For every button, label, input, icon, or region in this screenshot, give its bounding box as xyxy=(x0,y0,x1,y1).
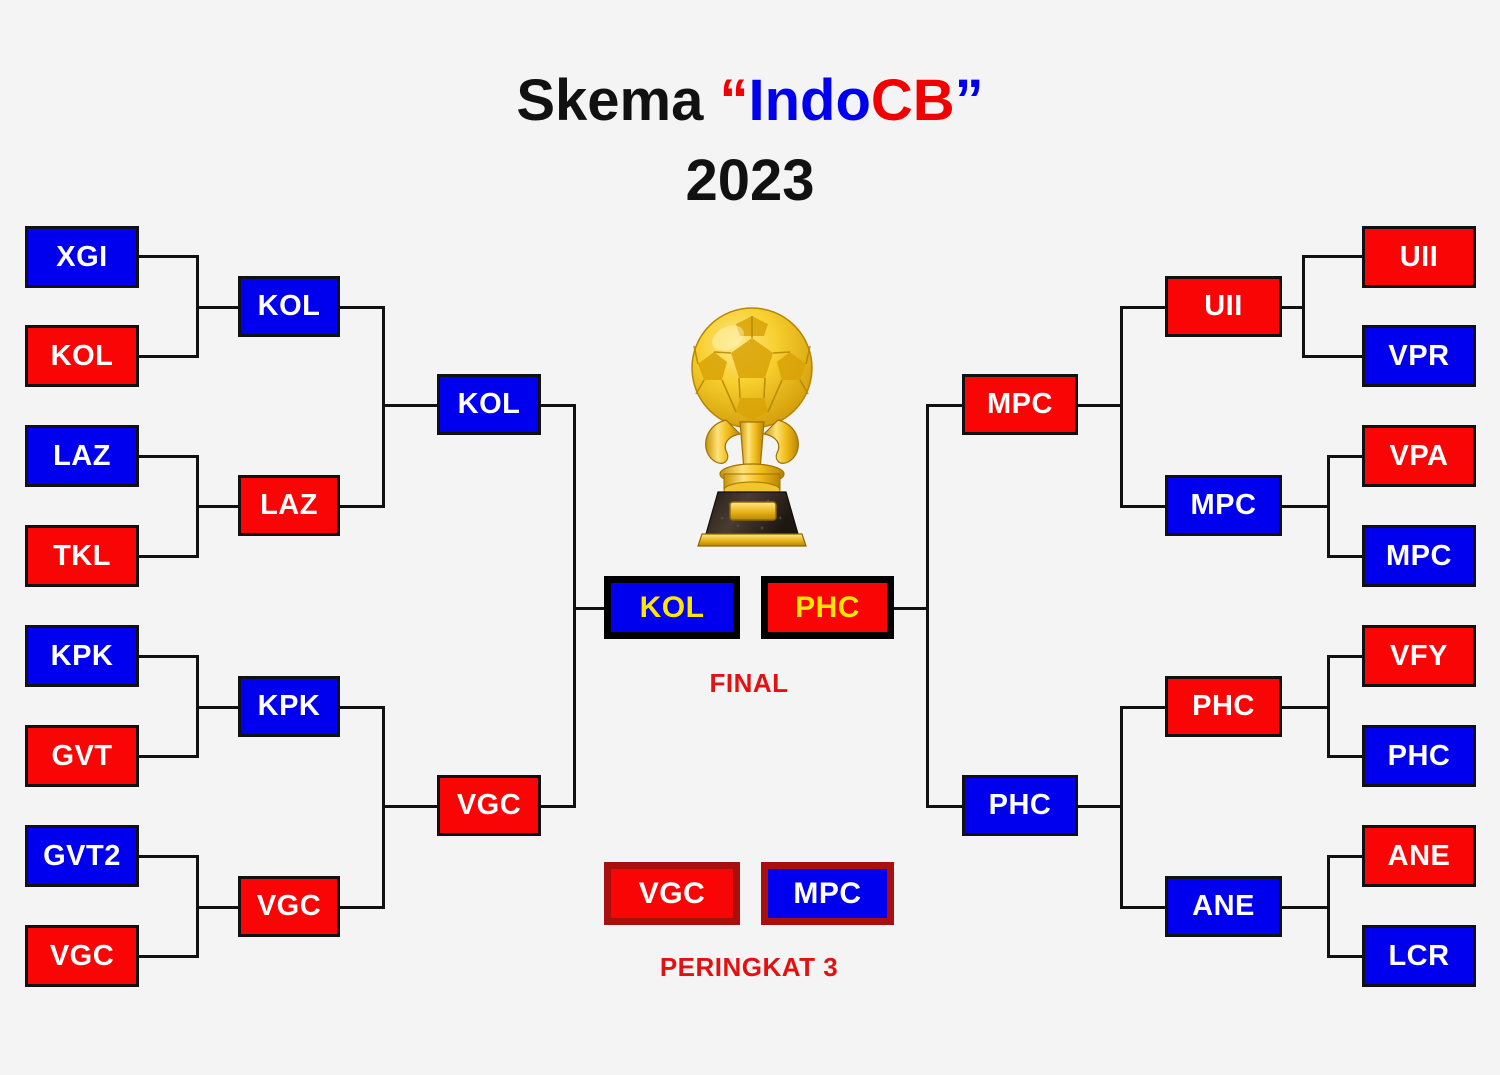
bracket-team-right-r2-1[interactable]: MPC xyxy=(1165,475,1282,536)
bracket-team-right-r1-3[interactable]: MPC xyxy=(1362,525,1476,587)
connector xyxy=(139,555,199,558)
connector xyxy=(1120,306,1123,508)
final-caption: FINAL xyxy=(604,668,894,699)
bracket-team-right-r1-6[interactable]: ANE xyxy=(1362,825,1476,887)
connector xyxy=(926,404,964,407)
connector xyxy=(1077,805,1123,808)
connector xyxy=(382,805,437,808)
bracket-team-right-r2-3[interactable]: ANE xyxy=(1165,876,1282,937)
connector xyxy=(340,906,385,909)
connector xyxy=(1282,906,1330,909)
connector xyxy=(1327,755,1362,758)
connector xyxy=(1282,505,1330,508)
title-line-main: Skema “IndoCB” xyxy=(0,72,1500,130)
bracket-team-left-r1-2[interactable]: LAZ xyxy=(25,425,139,487)
bracket-team-right-r1-5[interactable]: PHC xyxy=(1362,725,1476,787)
connector xyxy=(1327,855,1362,858)
trophy-icon xyxy=(672,302,832,550)
bracket-team-left-r2-0[interactable]: KOL xyxy=(238,276,340,337)
connector xyxy=(1120,306,1165,309)
connector xyxy=(340,505,385,508)
connector xyxy=(1120,706,1165,709)
bracket-team-right-r1-2[interactable]: VPA xyxy=(1362,425,1476,487)
connector xyxy=(382,306,385,508)
connector xyxy=(340,306,385,309)
connector xyxy=(1077,404,1123,407)
connector xyxy=(1282,706,1330,709)
bracket-team-left-r2-3[interactable]: VGC xyxy=(238,876,340,937)
final-team-left[interactable]: KOL xyxy=(604,576,740,639)
connector xyxy=(139,755,199,758)
title-year: 2023 xyxy=(0,152,1500,210)
connector xyxy=(196,306,238,309)
connector xyxy=(1327,455,1362,458)
title-brand-cb: CB xyxy=(871,68,955,133)
title-quote-open: “ xyxy=(719,68,748,133)
bracket-team-left-r1-4[interactable]: KPK xyxy=(25,625,139,687)
connector xyxy=(573,404,576,808)
connector xyxy=(1120,906,1165,909)
bracket-team-left-r1-6[interactable]: GVT2 xyxy=(25,825,139,887)
connector xyxy=(1327,555,1362,558)
connector xyxy=(1302,255,1362,258)
third-place-caption: PERINGKAT 3 xyxy=(594,952,904,983)
connector xyxy=(196,906,238,909)
bracket-team-right-r1-1[interactable]: VPR xyxy=(1362,325,1476,387)
bracket-team-right-r3-1[interactable]: PHC xyxy=(962,775,1078,836)
bracket-team-left-r1-5[interactable]: GVT xyxy=(25,725,139,787)
connector xyxy=(1327,655,1362,658)
connector xyxy=(382,404,437,407)
bracket-team-left-r1-3[interactable]: TKL xyxy=(25,525,139,587)
bracket-team-right-r2-0[interactable]: UII xyxy=(1165,276,1282,337)
connector xyxy=(926,805,964,808)
third-place-team-left[interactable]: VGC xyxy=(604,862,740,925)
connector xyxy=(196,706,238,709)
bracket-team-left-r1-1[interactable]: KOL xyxy=(25,325,139,387)
connector xyxy=(1327,955,1362,958)
bracket-team-left-r3-0[interactable]: KOL xyxy=(437,374,541,435)
page-title: Skema “IndoCB” 2023 xyxy=(0,72,1500,210)
connector xyxy=(139,255,199,258)
connector xyxy=(541,805,576,808)
bracket-team-left-r1-7[interactable]: VGC xyxy=(25,925,139,987)
connector xyxy=(139,655,199,658)
final-team-right[interactable]: PHC xyxy=(761,576,894,639)
bracket-team-left-r2-2[interactable]: KPK xyxy=(238,676,340,737)
connector xyxy=(894,607,929,610)
connector xyxy=(573,607,607,610)
title-quote-close: ” xyxy=(955,68,984,133)
connector xyxy=(139,955,199,958)
bracket-team-left-r3-1[interactable]: VGC xyxy=(437,775,541,836)
bracket-team-left-r2-1[interactable]: LAZ xyxy=(238,475,340,536)
third-place-team-right[interactable]: MPC xyxy=(761,862,894,925)
bracket-team-left-r1-0[interactable]: XGI xyxy=(25,226,139,288)
connector xyxy=(541,404,576,407)
connector xyxy=(926,404,929,808)
connector xyxy=(1282,306,1305,309)
bracket-team-right-r3-0[interactable]: MPC xyxy=(962,374,1078,435)
title-brand-indo: Indo xyxy=(748,68,870,133)
connector xyxy=(139,855,199,858)
connector xyxy=(340,706,385,709)
connector xyxy=(196,505,238,508)
connector xyxy=(1302,355,1362,358)
connector xyxy=(139,455,199,458)
bracket-team-right-r1-0[interactable]: UII xyxy=(1362,226,1476,288)
bracket-team-right-r1-7[interactable]: LCR xyxy=(1362,925,1476,987)
bracket-team-right-r1-4[interactable]: VFY xyxy=(1362,625,1476,687)
connector xyxy=(139,355,199,358)
bracket-team-right-r2-2[interactable]: PHC xyxy=(1165,676,1282,737)
title-word-skema: Skema xyxy=(516,68,703,133)
connector xyxy=(1120,505,1165,508)
bracket-canvas: Skema “IndoCB” 2023 xyxy=(0,0,1500,1075)
